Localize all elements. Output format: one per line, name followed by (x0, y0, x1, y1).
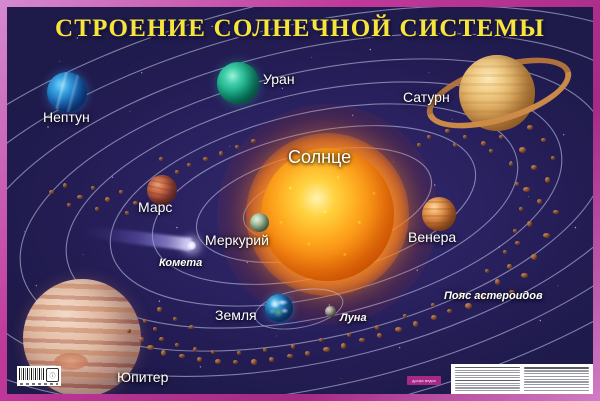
page-title: СТРОЕНИЕ СОЛНЕЧНОЙ СИСТЕМЫ (7, 15, 593, 43)
label-moon: Луна (340, 312, 367, 324)
barcode-bars (19, 368, 44, 380)
label-mercury: Меркурий (205, 232, 269, 248)
barcode-caption (20, 383, 58, 385)
label-venus: Венера (408, 229, 456, 245)
info-panel-column-left (455, 367, 520, 391)
label-uranus: Уран (263, 71, 295, 87)
label-earth: Земля (215, 307, 257, 323)
moon[interactable] (325, 306, 336, 317)
publisher-logo-text: дрофа медиа (412, 379, 435, 383)
info-panel-column-right (524, 367, 589, 391)
barcode: ⓘ (17, 366, 61, 386)
poster-frame: СТРОЕНИЕ СОЛНЕЧНОЙ СИСТЕМЫ Солнце Меркур… (7, 7, 593, 394)
planet-earth[interactable] (265, 294, 293, 322)
label-neptune: Нептун (43, 109, 90, 125)
poster: СТРОЕНИЕ СОЛНЕЧНОЙ СИСТЕМЫ Солнце Меркур… (0, 0, 600, 401)
barcode-mark-icon: ⓘ (46, 368, 59, 382)
planet-venus[interactable] (422, 197, 456, 231)
label-saturn: Сатурн (403, 89, 450, 105)
comet-tail (81, 225, 192, 251)
comet-head (186, 240, 197, 251)
comet[interactable] (81, 229, 199, 259)
publisher-logo: дрофа медиа (407, 376, 441, 385)
label-mars: Марс (138, 199, 172, 215)
venus-clouds (422, 197, 456, 231)
earth-continents (265, 294, 293, 322)
planet-mercury[interactable] (250, 213, 269, 232)
info-panel (451, 364, 593, 394)
label-comet: Комета (159, 257, 202, 269)
label-asteroid-belt: Пояс астероидов (444, 290, 543, 302)
planet-neptune[interactable] (47, 72, 87, 112)
label-sun: Солнце (288, 147, 351, 168)
label-jupiter: Юпитер (117, 369, 168, 385)
planet-uranus[interactable] (217, 62, 259, 104)
neptune-cloud-bands (47, 72, 87, 112)
